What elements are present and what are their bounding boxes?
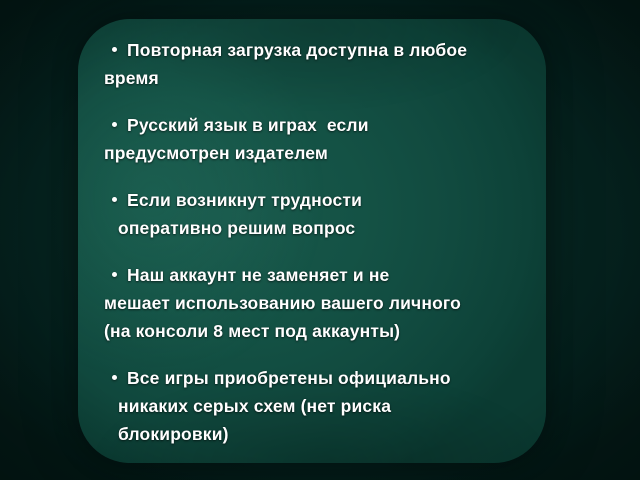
bullet-line: Русский язык в играх если [104,111,528,139]
bullet-line: предусмотрен издателем [104,139,528,167]
content-card: Повторная загрузка доступна в любое врем… [78,19,546,463]
list-item: Повторная загрузка доступна в любое врем… [104,36,528,92]
bullet-text: Русский язык в играх если [127,115,369,135]
bullet-line: Наш аккаунт не заменяет и не [104,261,528,289]
bullet-dot-icon [112,197,117,202]
bullet-text: Если возникнут трудности [127,190,362,210]
bullet-text: предусмотрен издателем [104,143,328,163]
bullet-dot-icon [112,122,117,127]
list-item: Если возникнут трудности оперативно реши… [104,186,528,242]
bullet-list: Повторная загрузка доступна в любое врем… [78,19,546,448]
bullet-dot-icon [112,375,117,380]
bullet-text: блокировки) [118,424,229,444]
bullet-dot-icon [112,272,117,277]
bullet-text: Все игры приобретены официально [127,368,451,388]
bullet-text: оперативно решим вопрос [118,218,355,238]
bullet-dot-icon [112,47,117,52]
list-item: Наш аккаунт не заменяет и не мешает испо… [104,261,528,345]
bullet-text: (на консоли 8 мест под аккаунты) [104,321,400,341]
list-item: Русский язык в играх если предусмотрен и… [104,111,528,167]
bullet-line: никаких серых схем (нет риска [104,392,528,420]
bullet-text: мешает использованию вашего личного [104,293,461,313]
bullet-text: Повторная загрузка доступна в любое [127,40,467,60]
bullet-line: (на консоли 8 мест под аккаунты) [104,317,528,345]
bullet-text: время [104,68,159,88]
bullet-text: никаких серых схем (нет риска [118,396,391,416]
bullet-line: оперативно решим вопрос [104,214,528,242]
bullet-line: Если возникнут трудности [104,186,528,214]
list-item: Все игры приобретены официально никаких … [104,364,528,448]
bullet-line: блокировки) [104,420,528,448]
bullet-line: мешает использованию вашего личного [104,289,528,317]
slide-canvas: Повторная загрузка доступна в любое врем… [0,0,640,480]
bullet-line: Все игры приобретены официально [104,364,528,392]
bullet-line: время [104,64,528,92]
bullet-text: Наш аккаунт не заменяет и не [127,265,389,285]
bullet-line: Повторная загрузка доступна в любое [104,36,528,64]
